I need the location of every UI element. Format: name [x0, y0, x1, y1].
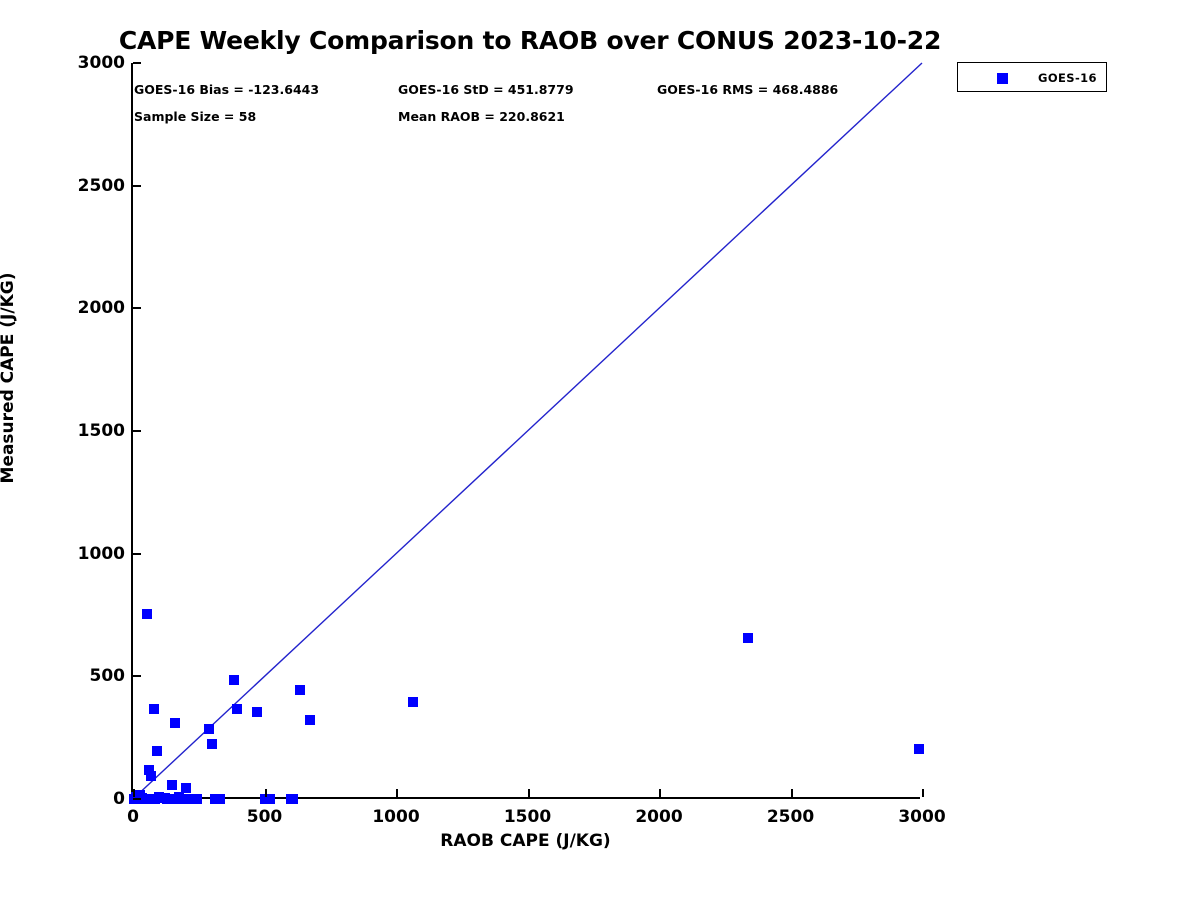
- scatter-point: [252, 707, 262, 717]
- y-tick-mark: [133, 798, 141, 800]
- scatter-point: [150, 794, 160, 804]
- scatter-point: [305, 715, 315, 725]
- x-tick-label: 2500: [731, 807, 851, 827]
- x-tick-label: 3000: [862, 807, 982, 827]
- scatter-point: [192, 794, 202, 804]
- scatter-point: [232, 704, 242, 714]
- y-axis-title: Measured CAPE (J/KG): [0, 10, 18, 746]
- y-tick-label: 2000: [55, 298, 125, 318]
- scatter-point: [170, 718, 180, 728]
- scatter-point: [743, 633, 753, 643]
- x-tick-label: 1500: [468, 807, 588, 827]
- x-axis-title: RAOB CAPE (J/KG): [131, 831, 920, 851]
- x-tick-mark: [659, 789, 661, 797]
- legend-label-goes16: GOES-16: [1038, 71, 1097, 85]
- x-tick-label: 500: [205, 807, 325, 827]
- x-tick-mark: [528, 789, 530, 797]
- y-tick-mark: [133, 62, 141, 64]
- scatter-point: [146, 771, 156, 781]
- x-tick-mark: [133, 789, 135, 797]
- scatter-point: [295, 685, 305, 695]
- y-tick-mark: [133, 307, 141, 309]
- scatter-point: [142, 609, 152, 619]
- legend: GOES-16: [957, 62, 1107, 92]
- scatter-point: [152, 746, 162, 756]
- x-tick-label: 1000: [336, 807, 456, 827]
- scatter-point: [215, 794, 225, 804]
- y-tick-label: 3000: [55, 53, 125, 73]
- y-tick-label: 2500: [55, 176, 125, 196]
- x-tick-mark: [922, 789, 924, 797]
- chart-title: CAPE Weekly Comparison to RAOB over CONU…: [0, 26, 1060, 55]
- scatter-point: [204, 724, 214, 734]
- scatter-point: [181, 783, 191, 793]
- scatter-point: [288, 794, 298, 804]
- x-tick-label: 2000: [599, 807, 719, 827]
- y-tick-label: 1500: [55, 421, 125, 441]
- reference-line-1to1: [133, 63, 922, 799]
- y-tick-label: 500: [55, 666, 125, 686]
- y-tick-mark: [133, 675, 141, 677]
- legend-swatch-goes16: [997, 73, 1008, 84]
- scatter-point: [149, 704, 159, 714]
- scatter-point: [177, 794, 187, 804]
- scatter-point: [167, 780, 177, 790]
- scatter-point: [207, 739, 217, 749]
- x-tick-mark: [791, 789, 793, 797]
- y-tick-label: 1000: [55, 544, 125, 564]
- x-tick-mark: [265, 789, 267, 797]
- x-tick-mark: [396, 789, 398, 797]
- x-tick-label: 0: [73, 807, 193, 827]
- scatter-point: [408, 697, 418, 707]
- scatter-point: [229, 675, 239, 685]
- y-tick-label: 0: [55, 789, 125, 809]
- y-tick-mark: [133, 430, 141, 432]
- scatter-point: [914, 744, 924, 754]
- plot-svg: [133, 63, 922, 799]
- chart-figure: CAPE Weekly Comparison to RAOB over CONU…: [0, 0, 1200, 900]
- y-tick-mark: [133, 185, 141, 187]
- plot-area: 050010001500200025003000 050010001500200…: [131, 63, 920, 799]
- y-tick-mark: [133, 553, 141, 555]
